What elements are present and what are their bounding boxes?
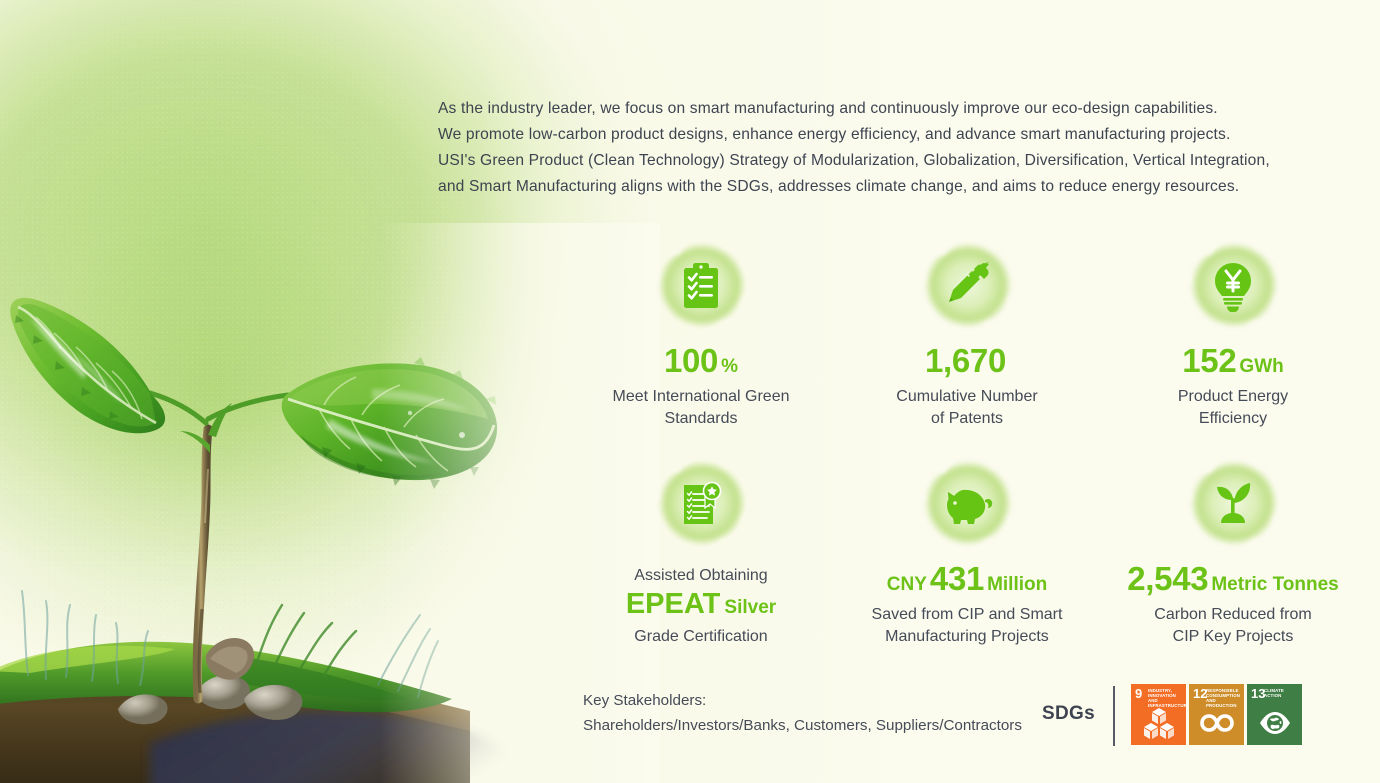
stat-icon-badge bbox=[1185, 456, 1281, 552]
lightbulb-yen-icon bbox=[1207, 260, 1259, 312]
stat-icon-badge bbox=[1185, 238, 1281, 334]
intro-line-4: and Smart Manufacturing aligns with the … bbox=[438, 174, 1338, 200]
stat-caption-line-1: Product Energy bbox=[1178, 386, 1288, 408]
stat-value: CNY431Million bbox=[887, 562, 1047, 595]
stat-caption-line-1: Cumulative Number bbox=[896, 386, 1037, 408]
intro-line-3: USI's Green Product (Clean Technology) S… bbox=[438, 148, 1338, 174]
stat-value: 100% bbox=[664, 344, 738, 377]
sdg-tile-12[interactable]: 12 Responsible Consumption and Productio… bbox=[1189, 684, 1244, 745]
epeat-bottom-text: Grade Certification bbox=[634, 626, 767, 648]
stat-value: 152GWh bbox=[1182, 344, 1284, 377]
stat-icon-badge bbox=[653, 456, 749, 552]
stat-unit: Million bbox=[987, 574, 1047, 595]
cubes-icon bbox=[1142, 706, 1176, 740]
stat-unit: % bbox=[721, 356, 738, 377]
stat-unit: GWh bbox=[1239, 356, 1283, 377]
stat-epeat: Assisted Obtaining EPEATSilver Grade Cer… bbox=[568, 456, 834, 648]
sdg-title: Climate Action bbox=[1264, 688, 1299, 698]
sdgs-divider bbox=[1113, 686, 1115, 746]
epeat-level: Silver bbox=[724, 597, 776, 618]
stat-number: 1,670 bbox=[925, 342, 1006, 379]
stat-cost-saving: CNY431Million Saved from CIP and Smart M… bbox=[834, 456, 1100, 648]
stat-icon-badge bbox=[653, 238, 749, 334]
sdg-tile-13[interactable]: 13 Climate Action bbox=[1247, 684, 1302, 745]
stat-caption: Carbon Reduced from CIP Key Projects bbox=[1154, 604, 1311, 648]
epeat-highlight: EPEATSilver bbox=[626, 590, 776, 619]
sdg-tile-9[interactable]: 9 Industry, Innovation and Infrastructur… bbox=[1131, 684, 1186, 745]
clipboard-checklist-icon bbox=[675, 260, 727, 312]
stat-patents: 1,670 Cumulative Number of Patents bbox=[834, 238, 1100, 430]
sprout-icon bbox=[1207, 478, 1259, 530]
stat-caption-line-2: Manufacturing Projects bbox=[872, 626, 1063, 648]
stat-number: 100 bbox=[664, 342, 718, 379]
sdgs-label: SDGs bbox=[1042, 703, 1095, 725]
intro-paragraph: As the industry leader, we focus on smar… bbox=[438, 96, 1338, 200]
stat-prefix: CNY bbox=[887, 574, 927, 595]
certificate-star-icon bbox=[675, 478, 727, 530]
epeat-top-text: Assisted Obtaining bbox=[634, 565, 767, 587]
sdg-tiles: 9 Industry, Innovation and Infrastructur… bbox=[1131, 684, 1302, 745]
stats-row-2: Assisted Obtaining EPEATSilver Grade Cer… bbox=[568, 456, 1368, 648]
eye-globe-icon bbox=[1258, 706, 1292, 740]
stat-caption-line-1: Saved from CIP and Smart bbox=[872, 604, 1063, 626]
infinity-icon bbox=[1200, 706, 1234, 740]
stakeholders-list: Shareholders/Investors/Banks, Customers,… bbox=[583, 713, 1022, 738]
stat-caption-line-2: of Patents bbox=[896, 408, 1037, 430]
stats-row-1: 100% Meet International Green Standards bbox=[568, 238, 1368, 430]
stat-caption: Saved from CIP and Smart Manufacturing P… bbox=[872, 604, 1063, 648]
stat-number: 152 bbox=[1182, 342, 1236, 379]
stakeholders-title: Key Stakeholders: bbox=[583, 688, 1022, 713]
stat-icon-badge bbox=[919, 456, 1015, 552]
stat-icon-badge bbox=[919, 238, 1015, 334]
stat-caption-line-2: Efficiency bbox=[1178, 408, 1288, 430]
stat-number: 2,543 bbox=[1127, 560, 1208, 597]
stat-value: 2,543Metric Tonnes bbox=[1127, 562, 1338, 595]
sdg-number: 9 bbox=[1135, 688, 1142, 699]
stat-caption: Meet International Green Standards bbox=[613, 386, 790, 430]
stat-energy-efficiency: 152GWh Product Energy Efficiency bbox=[1100, 238, 1366, 430]
stat-number: 431 bbox=[930, 560, 984, 597]
stat-value: 1,670 bbox=[925, 344, 1009, 377]
stats-grid: 100% Meet International Green Standards bbox=[568, 238, 1368, 648]
stat-caption-line-2: CIP Key Projects bbox=[1154, 626, 1311, 648]
stat-carbon-reduced: 2,543Metric Tonnes Carbon Reduced from C… bbox=[1100, 456, 1366, 648]
stat-caption-line-2: Standards bbox=[613, 408, 790, 430]
infographic-page: As the industry leader, we focus on smar… bbox=[0, 0, 1380, 783]
stat-caption: Product Energy Efficiency bbox=[1178, 386, 1288, 430]
piggy-bank-icon bbox=[941, 478, 993, 530]
epeat-label: EPEAT bbox=[626, 588, 721, 620]
pencil-check-icon bbox=[941, 260, 993, 312]
intro-line-2: We promote low-carbon product designs, e… bbox=[438, 122, 1338, 148]
stat-caption-line-1: Carbon Reduced from bbox=[1154, 604, 1311, 626]
stat-caption-line-1: Meet International Green bbox=[613, 386, 790, 408]
stat-unit: Metric Tonnes bbox=[1211, 574, 1338, 595]
stakeholders-text: Key Stakeholders: Shareholders/Investors… bbox=[583, 688, 1022, 738]
intro-line-1: As the industry leader, we focus on smar… bbox=[438, 96, 1338, 122]
stat-green-standards: 100% Meet International Green Standards bbox=[568, 238, 834, 430]
content-layer: As the industry leader, we focus on smar… bbox=[0, 0, 1380, 783]
stat-caption: Cumulative Number of Patents bbox=[896, 386, 1037, 430]
